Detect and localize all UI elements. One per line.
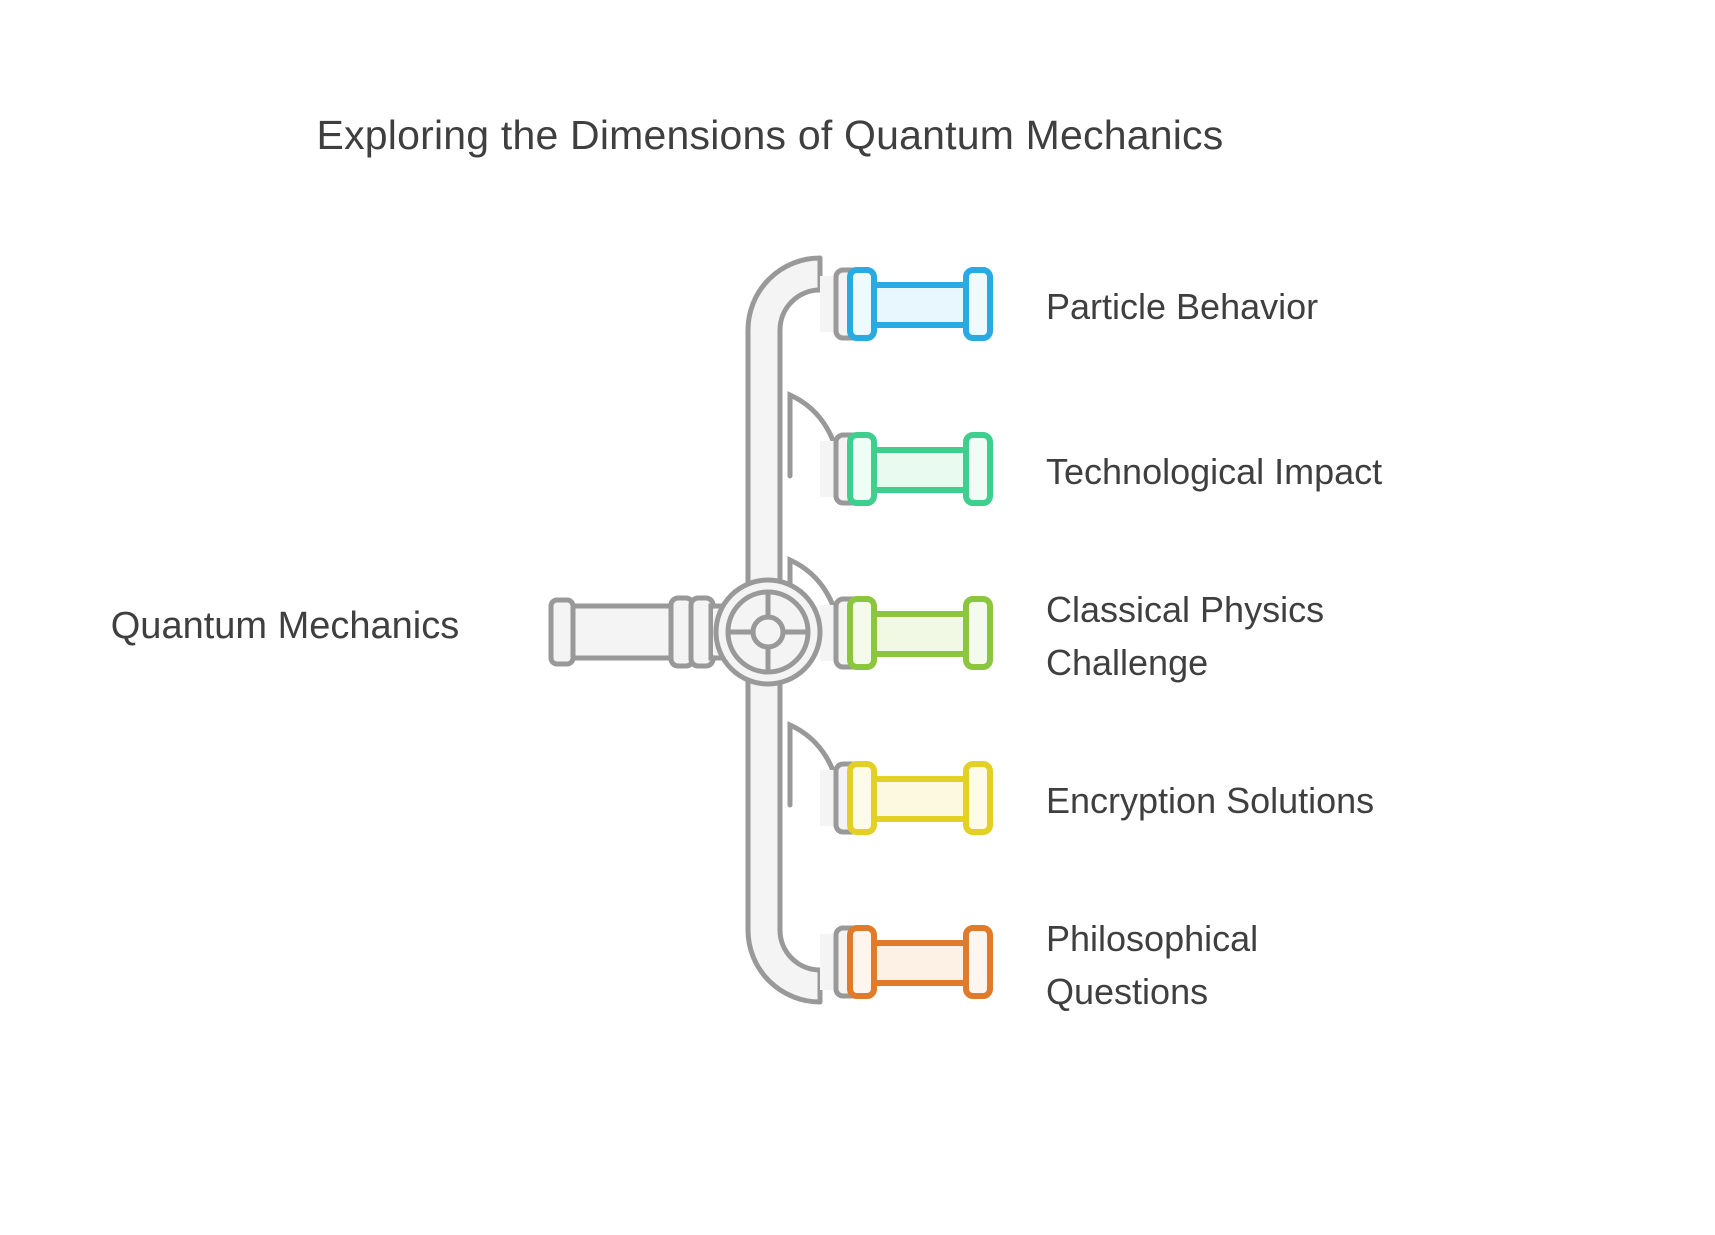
branch-label-5: Philosophical Questions <box>1046 913 1606 1019</box>
branch-pipe-3[interactable] <box>850 599 990 667</box>
branch-pipe-2[interactable] <box>850 435 990 503</box>
branch-label-1: Particle Behavior <box>1046 281 1606 334</box>
valve-wheel-icon[interactable] <box>716 580 820 684</box>
branch-pipe-1[interactable] <box>850 270 990 338</box>
diagram-canvas: Exploring the Dimensions of Quantum Mech… <box>0 0 1715 1235</box>
branch-pipe-5[interactable] <box>850 928 990 996</box>
branch-label-4: Encryption Solutions <box>1046 775 1606 828</box>
branch-label-2: Technological Impact <box>1046 446 1606 499</box>
branch-label-3: Classical Physics Challenge <box>1046 584 1606 690</box>
branch-pipe-4[interactable] <box>850 764 990 832</box>
